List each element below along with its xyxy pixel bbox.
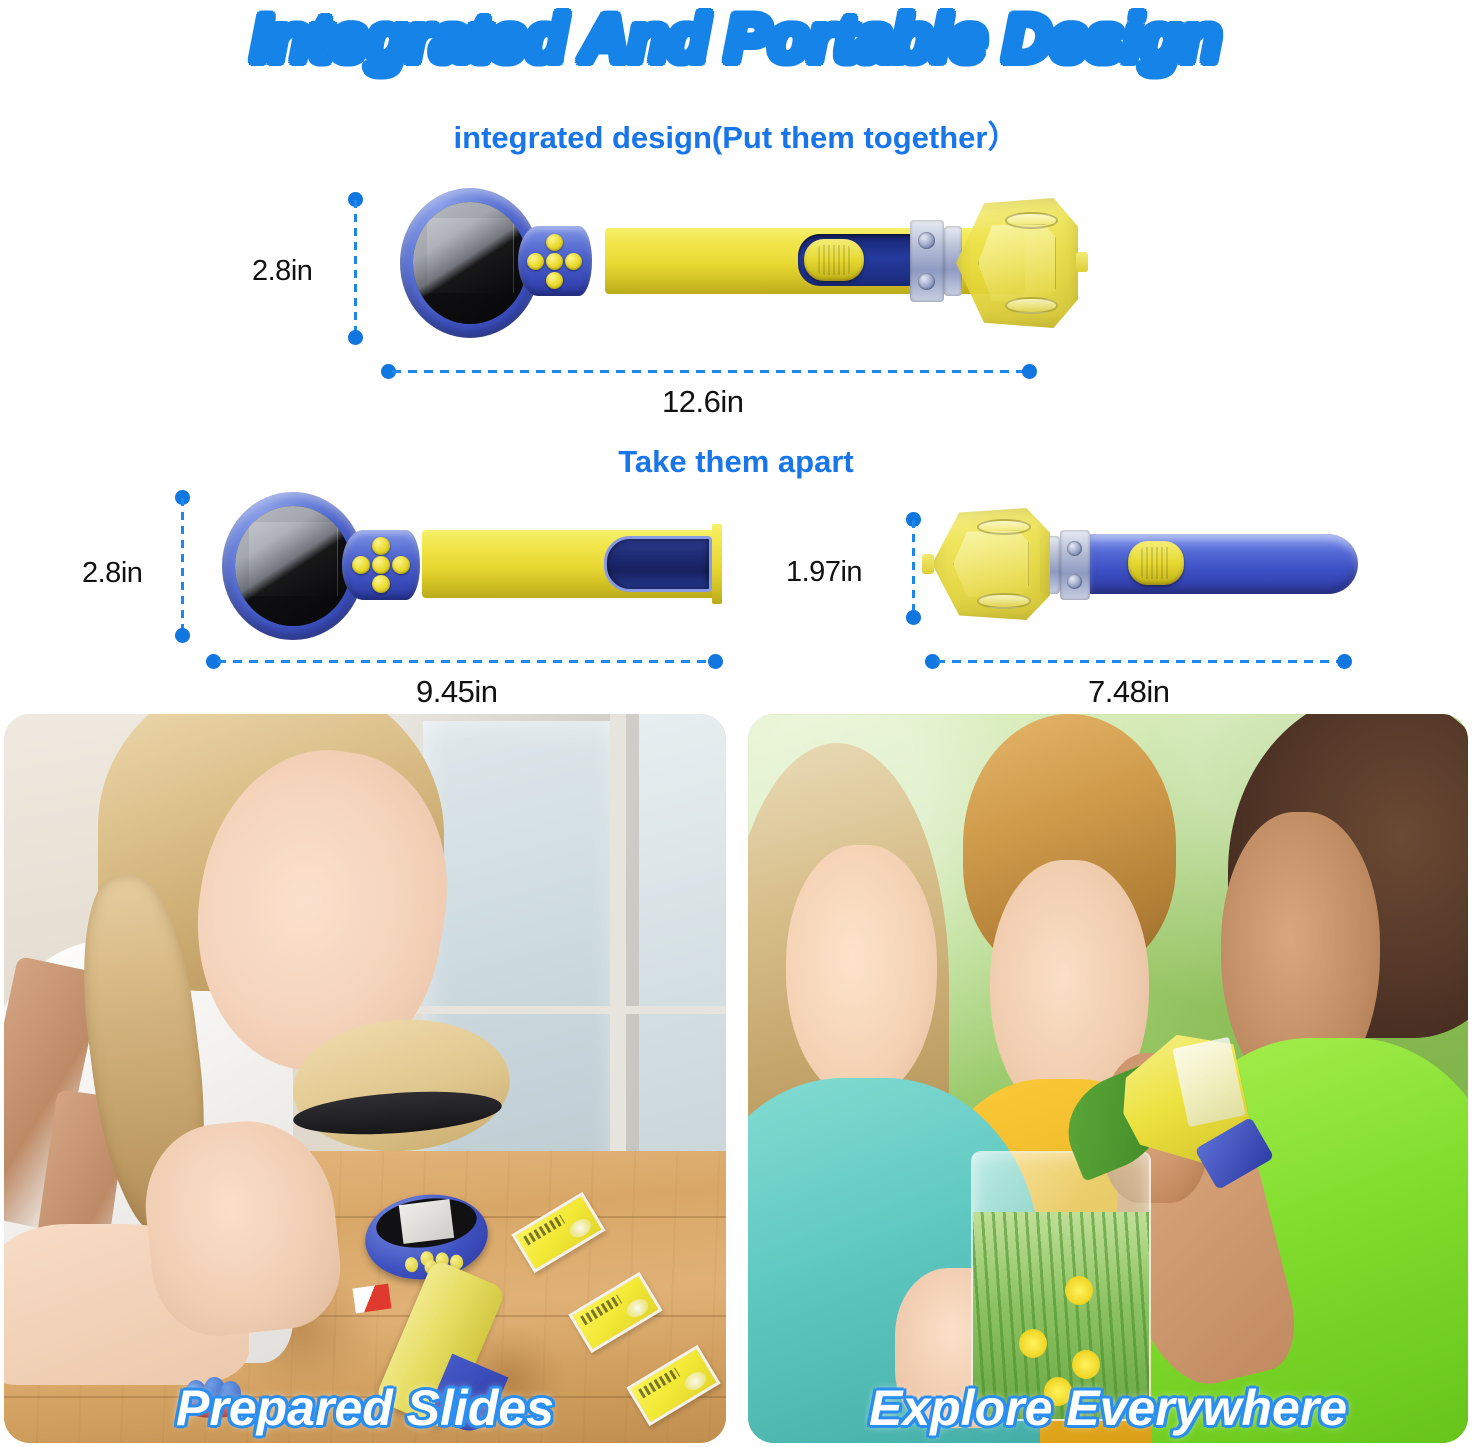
window-mullion-horizontal: [416, 1006, 726, 1014]
joint-screw-top: [1067, 541, 1082, 556]
microscope-height-dimension-line: [181, 498, 184, 634]
take-them-apart-heading: Take them apart: [0, 444, 1472, 480]
integrated-height-label: 2.8in: [252, 255, 312, 288]
photo-explore-everywhere: Explore Everywhere: [748, 714, 1468, 1443]
dim-dot: [906, 610, 921, 625]
joint-screw-top: [918, 232, 935, 249]
microscope-height-label: 2.8in: [82, 557, 142, 590]
dim-dot: [1337, 654, 1352, 669]
dim-dot: [175, 628, 190, 643]
control-button-center[interactable]: [546, 253, 563, 270]
microscope-screen-head: [222, 492, 402, 640]
microscope-length-dimension-line: [217, 660, 712, 663]
photo-prepared-slides: Prepared Slides: [4, 714, 726, 1443]
assembled-microscope-illustration: [400, 188, 1080, 338]
catcher-slider-knob[interactable]: [1128, 541, 1184, 585]
catcher-height-label: 1.97in: [786, 556, 862, 589]
control-button: [404, 1257, 419, 1273]
catcher-viewing-window: [953, 530, 1029, 597]
catcher-nose-tip: [922, 554, 934, 574]
control-button-left[interactable]: [352, 556, 370, 574]
dim-dot: [1022, 364, 1037, 379]
control-button-down[interactable]: [546, 272, 563, 289]
microscope-part-illustration: [222, 492, 722, 640]
catcher-vent-bottom: [1005, 297, 1059, 314]
yellow-flower: [1072, 1350, 1100, 1379]
explore-everywhere-caption: Explore Everywhere: [748, 1379, 1468, 1437]
integrated-length-label: 12.6in: [662, 384, 743, 420]
joint-screw-bottom: [918, 273, 935, 290]
slide-in-microscope: [399, 1199, 454, 1244]
dim-dot: [708, 654, 723, 669]
bug-catcher-chamber: [956, 198, 1078, 328]
microscope-display-screen: [235, 506, 351, 626]
integrated-design-heading: integrated design(Put them together）: [0, 112, 1472, 157]
catcher-length-dimension-line: [936, 660, 1341, 663]
bug-catcher-chamber: [932, 508, 1050, 620]
control-button-right[interactable]: [565, 253, 582, 270]
microscope-length-label: 9.45in: [416, 674, 497, 710]
microscope-screen-head: [400, 188, 575, 338]
integrated-height-dimension-line: [354, 200, 357, 336]
catcher-viewing-window: [978, 224, 1056, 302]
joint-screw-bottom: [1067, 574, 1082, 589]
catcher-vent-bottom: [977, 593, 1031, 609]
dim-dot: [348, 330, 363, 345]
page-title: Integrated And Portable Design: [0, 2, 1472, 74]
control-button-right[interactable]: [392, 556, 410, 574]
control-button-center[interactable]: [372, 556, 390, 574]
control-button-left[interactable]: [527, 253, 544, 270]
yellow-flower: [1065, 1276, 1093, 1305]
catcher-height-dimension-line: [912, 520, 915, 618]
control-button-up[interactable]: [372, 537, 390, 555]
microscope-open-socket: [604, 536, 712, 592]
girl-left-face: [786, 845, 937, 1100]
catcher-nose-tip: [1076, 252, 1088, 272]
microscope-display-screen: [413, 202, 527, 324]
specimen-slider-knob: [804, 239, 864, 281]
catcher-vent-top: [977, 519, 1031, 535]
bug-catcher-part-illustration: [940, 508, 1360, 620]
yellow-flower: [1019, 1329, 1047, 1358]
barrel-end-rim: [712, 524, 722, 604]
integrated-length-dimension-line: [392, 370, 1026, 373]
prepared-slides-caption: Prepared Slides: [4, 1379, 726, 1437]
catcher-length-label: 7.48in: [1088, 674, 1169, 710]
control-button-down[interactable]: [372, 575, 390, 593]
control-button-up[interactable]: [546, 234, 563, 251]
